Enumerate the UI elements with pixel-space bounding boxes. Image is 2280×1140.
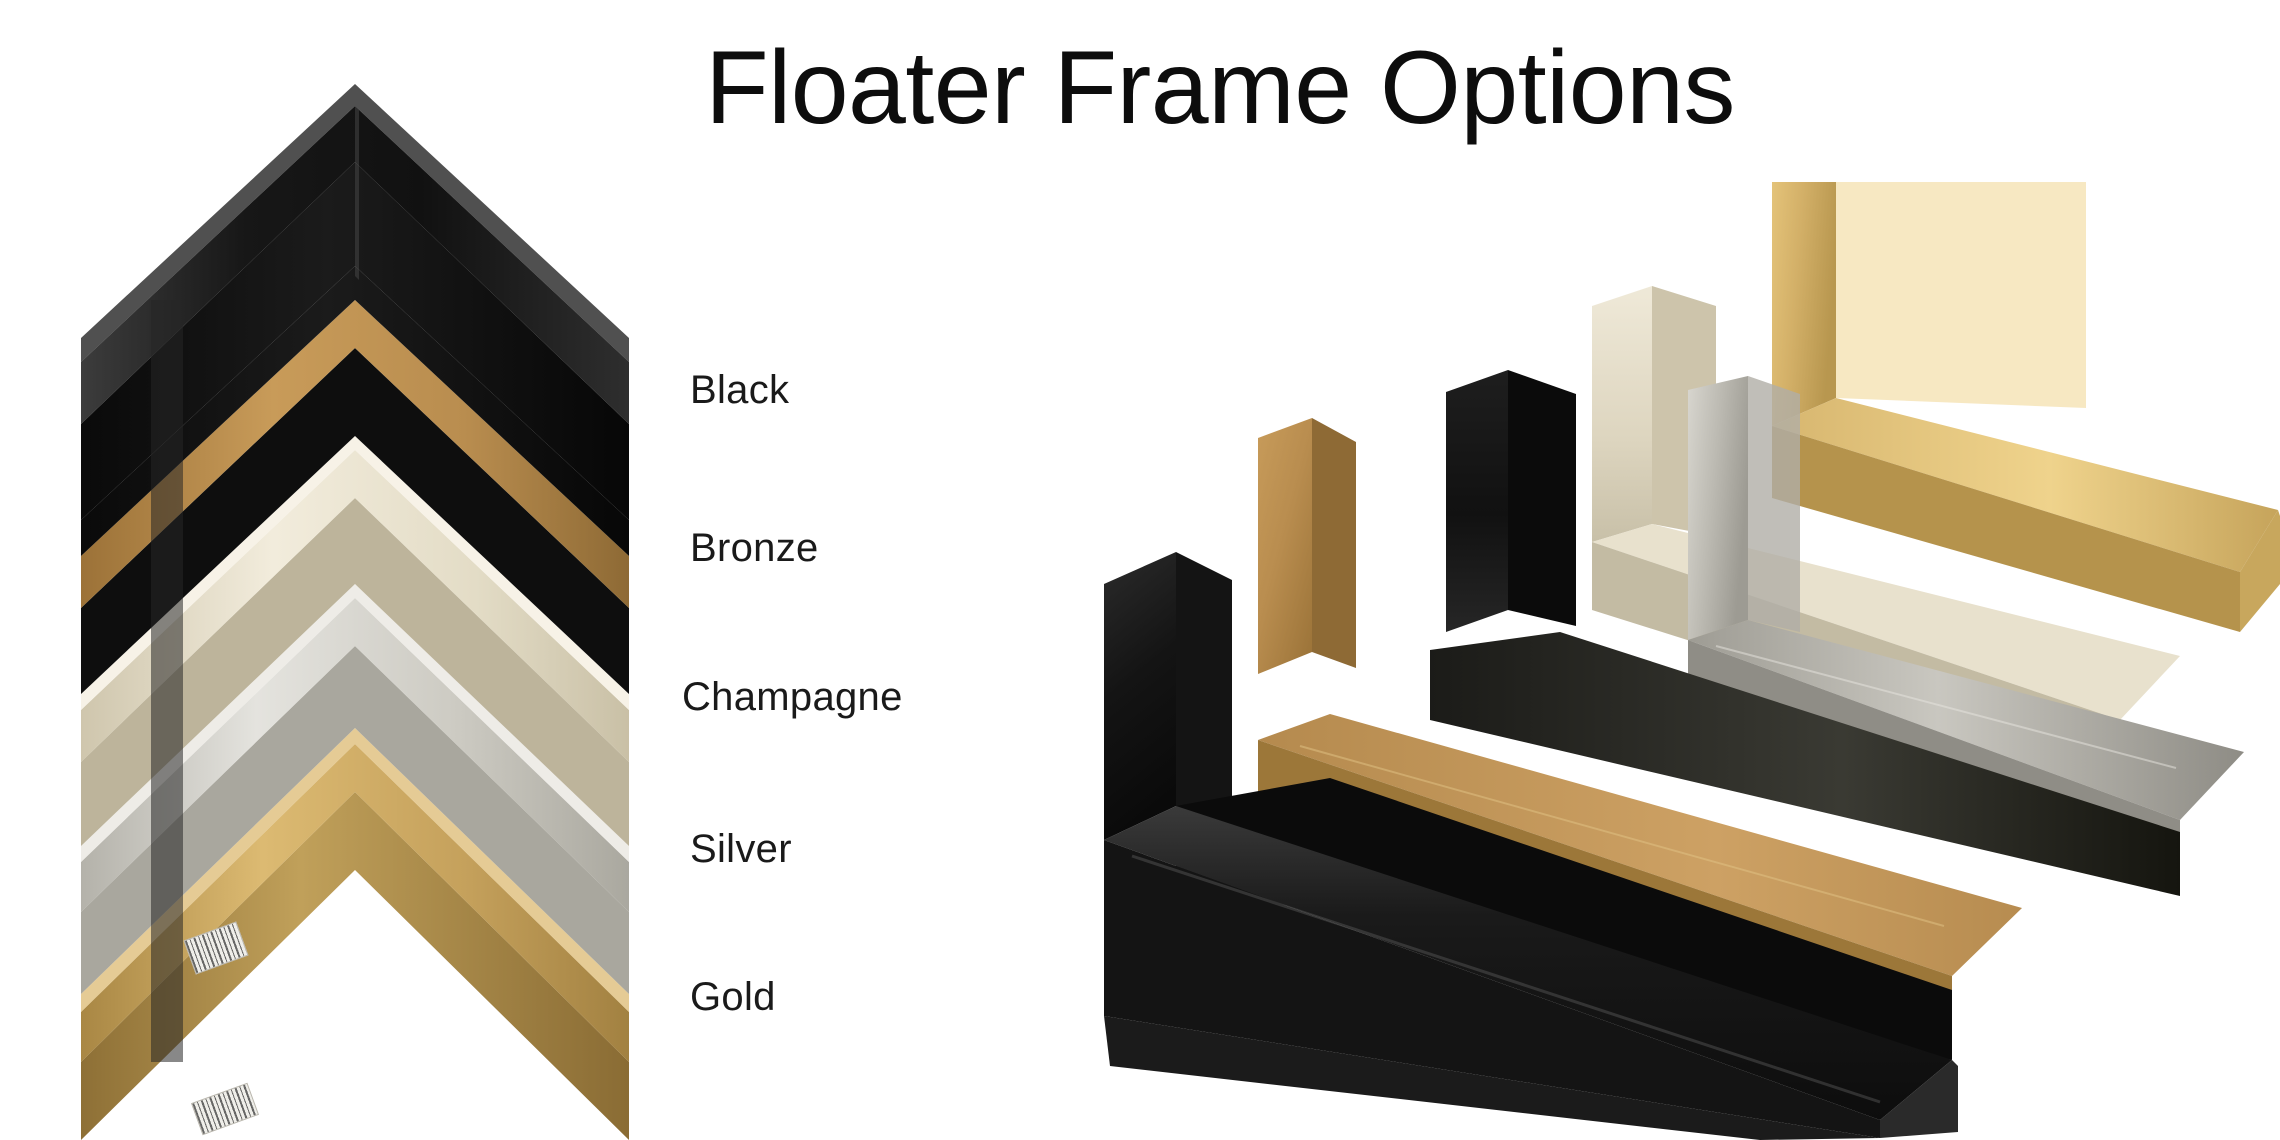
- stacked-frame-corner-samples: [55, 50, 715, 1140]
- angled-frames-illustration: [1000, 180, 2280, 1140]
- frame-black-inner-blade: [1446, 370, 1576, 632]
- swatch-label-gold: Gold: [690, 975, 776, 1020]
- swatch-label-black: Black: [690, 368, 789, 413]
- frame-gold: [1772, 182, 2280, 632]
- angled-nested-frame-corners: [1000, 180, 2280, 1140]
- slide-canvas: Floater Frame Options: [0, 0, 2280, 1140]
- swatch-label-champagne: Champagne: [682, 675, 903, 720]
- swatch-label-bronze: Bronze: [690, 526, 819, 571]
- frame-black-outer-blade: [1104, 552, 1232, 840]
- swatch-label-silver: Silver: [690, 827, 792, 872]
- stacked-chevrons-illustration: [55, 50, 715, 1140]
- backer-panel-edge: [151, 300, 183, 1062]
